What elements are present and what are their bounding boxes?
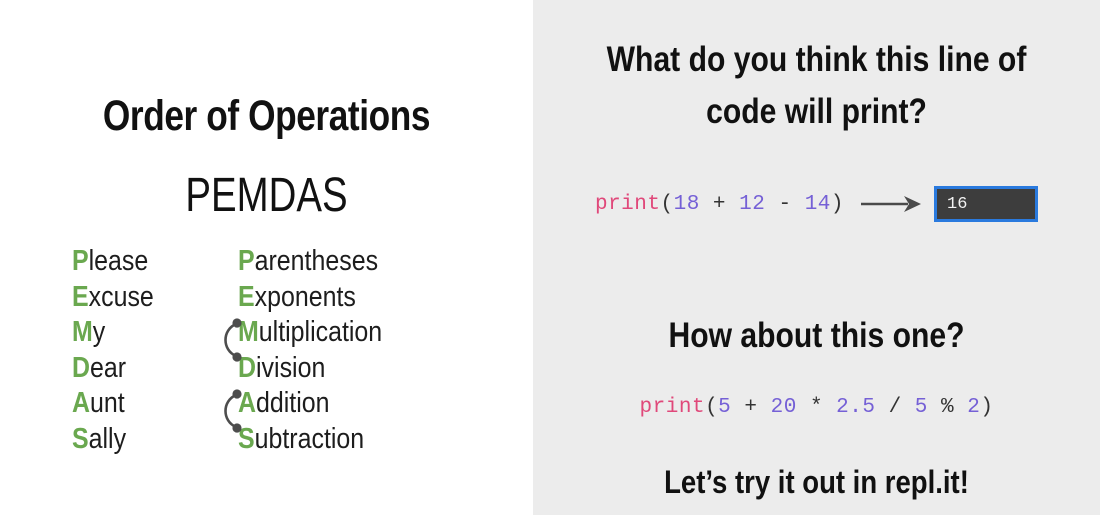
mnemonic-initial: S bbox=[238, 423, 255, 455]
code-token-close-paren: ) bbox=[831, 193, 844, 216]
mnemonic-rest: ultiplication bbox=[259, 316, 382, 348]
code-space bbox=[731, 396, 744, 419]
list-item: Excuse bbox=[72, 280, 154, 316]
list-item: My bbox=[72, 315, 154, 351]
console-output-box: 16 bbox=[934, 186, 1038, 222]
right-panel: What do you think this line of code will… bbox=[533, 0, 1100, 515]
list-item: Addition bbox=[238, 386, 382, 422]
mnemonic-initial: P bbox=[72, 245, 89, 277]
code-token-operator-1: + bbox=[713, 193, 726, 216]
code-space bbox=[875, 396, 888, 419]
code-token-number-b: 20 bbox=[771, 396, 797, 419]
mnemonic-initial: E bbox=[72, 281, 89, 313]
code-snippet-1: print(18 + 12 - 14) bbox=[595, 193, 844, 216]
code-space bbox=[902, 396, 915, 419]
code-token-number-e: 2 bbox=[967, 396, 980, 419]
mnemonic-rest: lease bbox=[89, 245, 149, 277]
code-token-number-c: 14 bbox=[805, 193, 831, 216]
mnemonic-initial: P bbox=[238, 245, 255, 277]
question-1-heading: What do you think this line of code will… bbox=[590, 34, 1043, 138]
code-space bbox=[726, 193, 739, 216]
code-space bbox=[758, 396, 771, 419]
code-token-operator-1: + bbox=[744, 396, 757, 419]
code-token-number-c: 2.5 bbox=[836, 396, 875, 419]
mnemonic-rest: xponents bbox=[255, 281, 356, 313]
closing-call-to-action: Let’s try it out in repl.it! bbox=[590, 464, 1043, 501]
code-space bbox=[797, 396, 810, 419]
code-token-operator-2: * bbox=[810, 396, 823, 419]
mnemonic-rest: ear bbox=[90, 352, 126, 384]
mnemonic-rest: ally bbox=[89, 423, 126, 455]
right-arrow-icon bbox=[860, 193, 922, 215]
mnemonic-list-phrase: Please Excuse My Dear Aunt Sally bbox=[72, 244, 154, 458]
list-item: Dear bbox=[72, 351, 154, 387]
mnemonic-initial: S bbox=[72, 423, 89, 455]
mnemonic-initial: D bbox=[238, 352, 256, 384]
mnemonic-initial: A bbox=[72, 387, 90, 419]
code-token-function: print bbox=[640, 396, 706, 419]
mnemonic-rest: unt bbox=[90, 387, 125, 419]
mnemonic-rest: ddition bbox=[256, 387, 330, 419]
mnemonic-rest: arentheses bbox=[255, 245, 378, 277]
page-subtitle: PEMDAS bbox=[53, 168, 479, 223]
list-item: Division bbox=[238, 351, 382, 387]
mnemonic-initial: M bbox=[238, 316, 259, 348]
mnemonic-section: Please Excuse My Dear Aunt Sally Parenth… bbox=[0, 244, 533, 474]
code-snippet-2: print(5 + 20 * 2.5 / 5 % 2) bbox=[640, 396, 994, 419]
mnemonic-rest: xcuse bbox=[89, 281, 154, 313]
list-item: Exponents bbox=[238, 280, 382, 316]
code-space bbox=[792, 193, 805, 216]
mnemonic-initial: A bbox=[238, 387, 256, 419]
mnemonic-rest: ivision bbox=[256, 352, 325, 384]
list-item: Multiplication bbox=[238, 315, 382, 351]
mnemonic-initial: M bbox=[72, 316, 93, 348]
code-space bbox=[765, 193, 778, 216]
code-example-1-row: print(18 + 12 - 14) 16 bbox=[533, 186, 1100, 222]
code-token-operator-2: - bbox=[778, 193, 791, 216]
code-space bbox=[823, 396, 836, 419]
code-token-open-paren: ( bbox=[660, 193, 673, 216]
code-token-number-d: 5 bbox=[915, 396, 928, 419]
question-2-heading: How about this one? bbox=[590, 310, 1043, 362]
code-token-number-a: 18 bbox=[674, 193, 700, 216]
list-item: Please bbox=[72, 244, 154, 280]
slide-root: Order of Operations PEMDAS Please Excuse… bbox=[0, 0, 1100, 515]
mnemonic-initial: D bbox=[72, 352, 90, 384]
code-space bbox=[954, 396, 967, 419]
mnemonic-initial: E bbox=[238, 281, 255, 313]
list-item: Parentheses bbox=[238, 244, 382, 280]
code-token-number-a: 5 bbox=[718, 396, 731, 419]
mnemonic-rest: ubtraction bbox=[255, 423, 365, 455]
code-space bbox=[700, 193, 713, 216]
code-token-close-paren: ) bbox=[980, 396, 993, 419]
left-panel: Order of Operations PEMDAS Please Excuse… bbox=[0, 0, 533, 515]
code-token-operator-4: % bbox=[941, 396, 954, 419]
mnemonic-rest: y bbox=[93, 316, 105, 348]
console-output-value: 16 bbox=[947, 195, 967, 214]
code-token-function: print bbox=[595, 193, 661, 216]
code-token-number-b: 12 bbox=[739, 193, 765, 216]
list-item: Subtraction bbox=[238, 422, 382, 458]
code-token-open-paren: ( bbox=[705, 396, 718, 419]
code-token-operator-3: / bbox=[889, 396, 902, 419]
list-item: Aunt bbox=[72, 386, 154, 422]
code-example-2-row: print(5 + 20 * 2.5 / 5 % 2) bbox=[533, 396, 1100, 419]
list-item: Sally bbox=[72, 422, 154, 458]
code-space bbox=[928, 396, 941, 419]
page-title: Order of Operations bbox=[48, 92, 485, 141]
mnemonic-list-operations: Parentheses Exponents Multiplication Div… bbox=[238, 244, 382, 458]
